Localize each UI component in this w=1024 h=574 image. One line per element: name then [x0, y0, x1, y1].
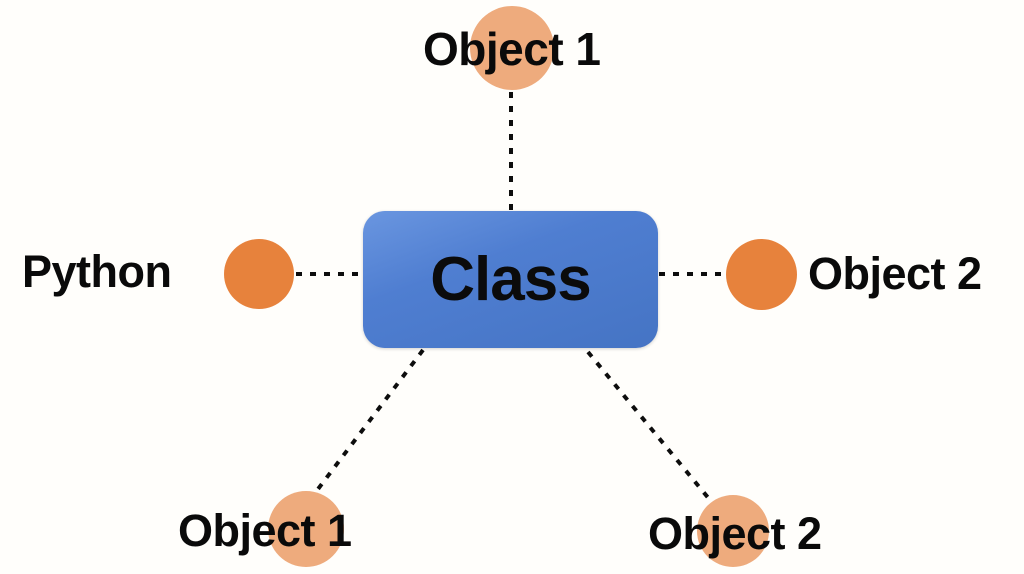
node-label-object-bottom-right: Object 2 — [648, 508, 822, 560]
diagram-canvas: Class Object 1 Python Object 2 Object 1 … — [0, 0, 1024, 574]
node-label-object-right: Object 2 — [808, 248, 982, 300]
node-label-object-bottom-left: Object 1 — [178, 505, 352, 557]
connector-class-to-object-bottom-right — [588, 352, 710, 500]
class-node-box[interactable]: Class — [363, 211, 658, 348]
connector-class-to-object-bottom-left — [312, 350, 423, 497]
node-label-object-top: Object 1 — [423, 22, 601, 76]
node-circle-object-right[interactable] — [726, 239, 797, 310]
node-label-python-left: Python — [22, 246, 172, 298]
class-node-label: Class — [363, 211, 658, 348]
node-circle-python-left[interactable] — [224, 239, 294, 309]
